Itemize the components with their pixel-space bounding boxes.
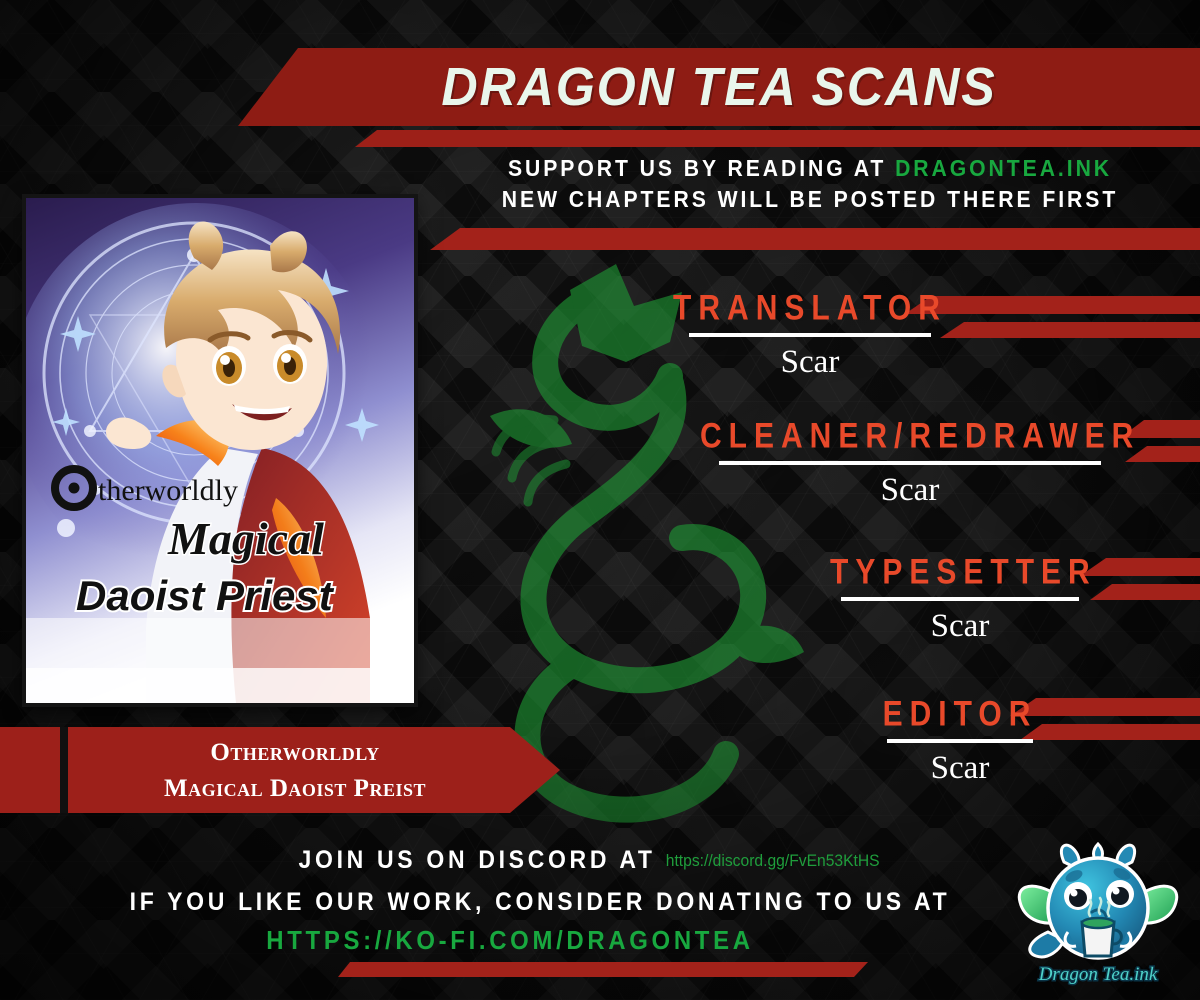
mascot-wordmark: Dragon Tea.ink (1038, 964, 1158, 985)
scanlation-credit-page: DRAGON TEA SCANS SUPPORT US BY READING A… (0, 0, 1200, 1000)
credit-underline (841, 597, 1079, 601)
discord-link[interactable]: https://discord.gg/FvEn53KtHS (666, 851, 880, 870)
discord-label: JOIN US ON DISCORD AT (299, 846, 656, 874)
support-line: SUPPORT US BY READING AT DRAGONTEA.INK (460, 155, 1159, 182)
credit-translator: TRANSLATOR Scar (660, 292, 960, 381)
credit-role-label: CLEANER/REDRAWER (700, 417, 1120, 457)
credit-person-name: Scar (850, 750, 1070, 787)
site-link[interactable]: DRAGONTEA.INK (895, 155, 1112, 181)
credit-accent-bar-translator-2 (940, 322, 1200, 338)
dragon-tea-mascot-icon: Dragon Tea.ink (1012, 836, 1184, 988)
series-title: Otherworldly Magical Daoist Preist (80, 735, 510, 807)
credit-person-name: Scar (660, 344, 960, 381)
series-banner-notch (60, 727, 68, 813)
page-title: DRAGON TEA SCANS (272, 48, 1167, 126)
credit-role-label: TYPESETTER (830, 553, 1090, 593)
credit-person-name: Scar (830, 608, 1090, 645)
new-chapters-line: NEW CHAPTERS WILL BE POSTED THERE FIRST (460, 186, 1159, 213)
credit-role-label: EDITOR (850, 695, 1070, 735)
series-title-line2: Magical Daoist Preist (80, 771, 510, 807)
credit-editor: EDITOR Scar (850, 698, 1070, 787)
svg-text:Magical: Magical (167, 513, 324, 564)
donate-label: IF YOU LIKE OUR WORK, CONSIDER DONATING … (98, 888, 981, 917)
header-lower-accent-bar (430, 228, 1200, 250)
credit-person-name: Scar (700, 472, 1120, 509)
discord-line: JOIN US ON DISCORD AT https://discord.gg… (180, 846, 879, 875)
credit-cleaner-redrawer: CLEANER/REDRAWER Scar (700, 420, 1120, 509)
series-title-line1: Otherworldly (80, 735, 510, 771)
svg-text:therworldly: therworldly (98, 474, 238, 507)
credit-typesetter: TYPESETTER Scar (830, 556, 1090, 645)
credit-role-label: TRANSLATOR (660, 289, 960, 329)
kofi-link[interactable]: HTTPS://KO-FI.COM/DRAGONTEA (96, 925, 924, 956)
support-line-text: SUPPORT US BY READING AT (508, 155, 895, 181)
header-accent-bar (355, 130, 1200, 147)
series-cover-image[interactable]: therworldly Magical Daoist Priest (26, 198, 414, 703)
credit-underline (689, 333, 931, 337)
footer-accent-bar (338, 962, 868, 977)
credit-underline (887, 739, 1033, 743)
credit-underline (719, 461, 1101, 465)
svg-text:Daoist Priest: Daoist Priest (76, 572, 335, 619)
